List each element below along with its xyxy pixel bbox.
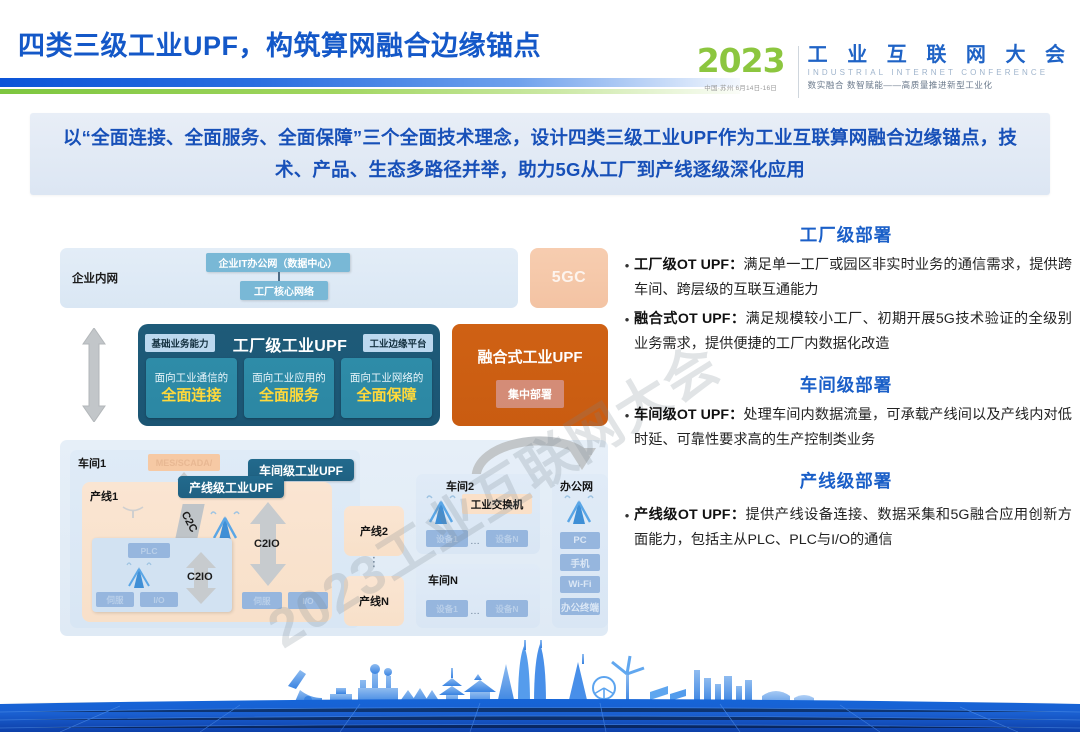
bullet-term: 融合式OT UPF： <box>634 311 746 327</box>
workshop2-box: 车间2 工业交换机 设备1 … 设备N <box>416 474 540 554</box>
capability-main: 全面服务 <box>259 386 319 406</box>
c2io-outer-label: C2IO <box>254 538 280 550</box>
antenna-small-icon <box>120 504 146 520</box>
summary-banner-text: 以“全面连接、全面服务、全面保障”三个全面技术理念，设计四类三级工业UPF作为工… <box>53 122 1028 186</box>
capability-card: 面向工业通信的 全面连接 <box>146 358 237 418</box>
section-heading-factory: 工厂级部署 <box>620 222 1072 247</box>
logo-text-block: 工 业 互 联 网 大 会 INDUSTRIAL INTERNET CONFER… <box>808 44 1072 92</box>
capability-card: 面向工业应用的 全面服务 <box>244 358 335 418</box>
base-station-icon-small <box>126 560 152 590</box>
line2-box: 产线2 <box>344 506 404 556</box>
capability-sub: 面向工业网络的 <box>350 371 424 386</box>
header-green-rule <box>0 89 740 94</box>
workshopN-label: 车间N <box>428 572 458 588</box>
office-item-phone: 手机 <box>560 554 600 571</box>
deviceN-chip: 设备N <box>486 600 528 617</box>
logo-year: 2023 <box>693 44 789 78</box>
spacer <box>620 457 1072 468</box>
fused-upf-badge: 集中部署 <box>496 380 564 408</box>
spacer <box>620 361 1072 372</box>
section-heading-line: 产线级部署 <box>620 468 1072 493</box>
workshopN-box: 车间N 设备1 … 设备N <box>416 564 540 628</box>
bullet-term: 产线级OT UPF： <box>634 507 746 523</box>
slide-root: 四类三级工业UPF，构筑算网融合边缘锚点 2023 中国·苏州 6月14日-16… <box>0 0 1080 732</box>
servo-chip-inner: 伺服 <box>96 592 134 607</box>
factory-upf-title: 工厂级工业UPF <box>202 332 378 356</box>
bullet-dot-icon: • <box>620 503 634 528</box>
page-title: 四类三级工业UPF，构筑算网融合边缘锚点 <box>18 24 541 63</box>
plc-chip: PLC <box>128 543 170 558</box>
summary-banner: 以“全面连接、全面服务、全面保障”三个全面技术理念，设计四类三级工业UPF作为工… <box>30 113 1050 195</box>
enterprise-connector <box>278 272 280 281</box>
vertical-double-arrow-icon <box>82 328 106 422</box>
line1-box: 产线1 产线级工业UPF C2C C2IO 伺服 <box>82 482 332 622</box>
bullet-text: 产线级OT UPF：提供产线设备连接、数据采集和5G融合应用创新方面能力，包括主… <box>634 503 1072 553</box>
bullet-item: • 车间级OT UPF：处理车间内数据流量，可承载产线间以及产线内对低时延、可靠… <box>620 403 1072 453</box>
tag-industrial-edge-platform: 工业边缘平台 <box>363 334 433 352</box>
mes-scada-chip: MES/SCADA/ <box>148 454 220 471</box>
bullet-dot-icon: • <box>620 307 634 332</box>
factory-level-upf-panel: 基础业务能力 工厂级工业UPF 工业边缘平台 面向工业通信的 全面连接 面向工业… <box>138 324 440 426</box>
servo-chip-outer: 伺服 <box>242 592 282 609</box>
office-item-wifi: Wi-Fi <box>560 576 600 593</box>
logo-year-block: 2023 中国·苏州 6月14日-16日 <box>693 44 789 92</box>
slide-header: 四类三级工业UPF，构筑算网融合边缘锚点 2023 中国·苏州 6月14日-16… <box>0 0 1080 108</box>
capability-row: 面向工业通信的 全面连接 面向工业应用的 全面服务 面向工业网络的 全面保障 <box>146 358 432 418</box>
base-station-icon <box>210 508 240 542</box>
skyline-illustration <box>0 640 1080 732</box>
line-ellipsis: ⋮ <box>366 558 382 566</box>
office-item-terminal: 办公终端 <box>560 598 600 615</box>
fused-industrial-upf-panel: 融合式工业UPF 集中部署 <box>452 324 608 426</box>
description-column: 工厂级部署 • 工厂级OT UPF：满足单一工厂或园区非实时业务的通信需求，提供… <box>620 222 1072 557</box>
section-heading-workshop: 车间级部署 <box>620 372 1072 397</box>
bullet-dot-icon: • <box>620 403 634 428</box>
bullet-term: 车间级OT UPF： <box>634 407 743 423</box>
capability-sub: 面向工业通信的 <box>155 371 229 386</box>
enterprise-it-office-box: 企业IT办公网（数据中心） <box>206 253 350 272</box>
base-station-icon <box>426 492 456 526</box>
line1-inner-box: PLC 伺服 I/O C2IO <box>92 538 232 612</box>
logo-location: 中国·苏州 6月14日-16日 <box>693 82 789 92</box>
slide-footer <box>0 640 1080 732</box>
logo-conference-en: INDUSTRIAL INTERNET CONFERENCE <box>808 67 1072 79</box>
bullet-item: • 融合式OT UPF：满足规模较小工厂、初期开展5G技术验证的全级别业务需求，… <box>620 307 1072 357</box>
io-chip-inner: I/O <box>140 592 178 607</box>
line-level-upf-badge: 产线级工业UPF <box>178 476 284 498</box>
device-ellipsis: … <box>470 536 480 547</box>
logo-conference-cn: 工 业 互 联 网 大 会 <box>808 44 1072 67</box>
bullet-text: 工厂级OT UPF：满足单一工厂或园区非实时业务的通信需求，提供跨车间、跨层级的… <box>634 253 1072 303</box>
device1-chip: 设备1 <box>426 530 468 547</box>
enterprise-intranet-label: 企业内网 <box>72 270 118 286</box>
device-ellipsis: … <box>470 606 480 617</box>
office-network-box: 办公网 PC 手机 Wi-Fi 办公终端 <box>552 474 608 628</box>
bullet-text: 融合式OT UPF：满足规模较小工厂、初期开展5G技术验证的全级别业务需求，提供… <box>634 307 1072 357</box>
workshop1-label: 车间1 <box>78 455 106 471</box>
capability-card: 面向工业网络的 全面保障 <box>341 358 432 418</box>
fused-upf-title: 融合式工业UPF <box>452 346 608 367</box>
capability-main: 全面连接 <box>161 386 221 406</box>
device1-chip: 设备1 <box>426 600 468 617</box>
capability-main: 全面保障 <box>357 386 417 406</box>
office-item-pc: PC <box>560 532 600 549</box>
bullet-term: 工厂级OT UPF： <box>634 257 743 273</box>
core-5gc-box: 5GC <box>530 248 608 308</box>
line1-label: 产线1 <box>90 488 118 504</box>
capability-sub: 面向工业应用的 <box>252 371 326 386</box>
conference-logo: 2023 中国·苏州 6月14日-16日 工 业 互 联 网 大 会 INDUS… <box>693 44 1072 102</box>
bullet-dot-icon: • <box>620 253 634 278</box>
base-station-icon <box>564 492 594 526</box>
industrial-switch-chip: 工业交换机 <box>462 494 532 514</box>
curved-arrow-icon <box>456 422 608 482</box>
header-blue-rule <box>0 78 740 87</box>
bullet-text: 车间级OT UPF：处理车间内数据流量，可承载产线间以及产线内对低时延、可靠性要… <box>634 403 1072 453</box>
factory-core-network-box: 工厂核心网络 <box>240 281 328 300</box>
lineN-box: 产线N <box>344 576 404 626</box>
c2io-inner-label: C2IO <box>187 571 213 583</box>
bullet-item: • 产线级OT UPF：提供产线设备连接、数据采集和5G融合应用创新方面能力，包… <box>620 503 1072 553</box>
deviceN-chip: 设备N <box>486 530 528 547</box>
enterprise-intranet-band: 企业内网 企业IT办公网（数据中心） 工厂核心网络 <box>60 248 518 308</box>
bullet-item: • 工厂级OT UPF：满足单一工厂或园区非实时业务的通信需求，提供跨车间、跨层… <box>620 253 1072 303</box>
architecture-diagram: 企业内网 企业IT办公网（数据中心） 工厂核心网络 5GC 基础业务能力 工厂级… <box>60 236 608 640</box>
logo-divider <box>798 46 799 98</box>
io-chip-outer: I/O <box>288 592 328 609</box>
logo-slogan: 数实融合 数智赋能——高质量推进新型工业化 <box>808 79 1072 92</box>
